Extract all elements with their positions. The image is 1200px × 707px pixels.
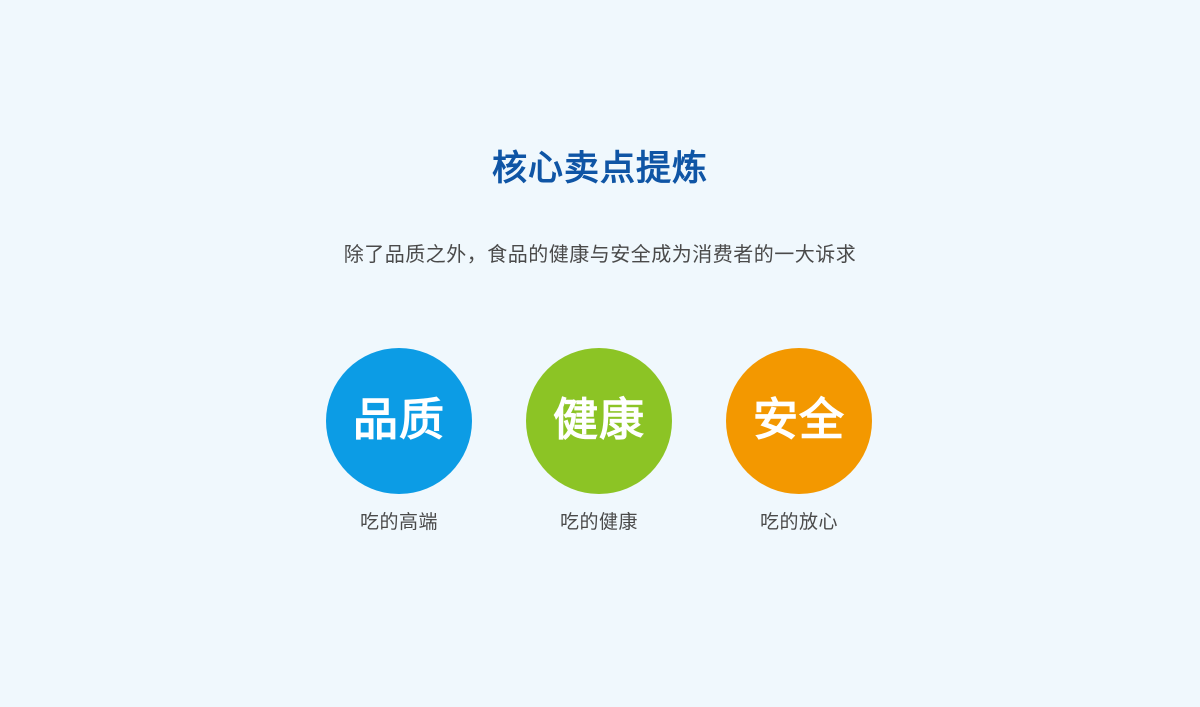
page-subtitle: 除了品质之外，食品的健康与安全成为消费者的一大诉求 (0, 240, 1200, 270)
health-caption: 吃的健康 (526, 510, 672, 536)
health-circle-label: 健康 (553, 397, 645, 443)
safety-circle: 安全 (726, 348, 872, 494)
selling-point-item-health: 健康 吃的健康 (526, 348, 672, 536)
selling-point-group: 品质 吃的高端 健康 吃的健康 安全 吃的放心 (326, 348, 874, 548)
selling-point-item-quality: 品质 吃的高端 (326, 348, 472, 536)
quality-caption: 吃的高端 (326, 510, 472, 536)
safety-caption: 吃的放心 (726, 510, 872, 536)
selling-point-item-safety: 安全 吃的放心 (726, 348, 872, 536)
page-title: 核心卖点提炼 (0, 146, 1200, 192)
slide-canvas: 核心卖点提炼 除了品质之外，食品的健康与安全成为消费者的一大诉求 品质 吃的高端… (0, 0, 1200, 707)
quality-circle-label: 品质 (353, 397, 445, 443)
safety-circle-label: 安全 (753, 397, 845, 443)
health-circle: 健康 (526, 348, 672, 494)
quality-circle: 品质 (326, 348, 472, 494)
